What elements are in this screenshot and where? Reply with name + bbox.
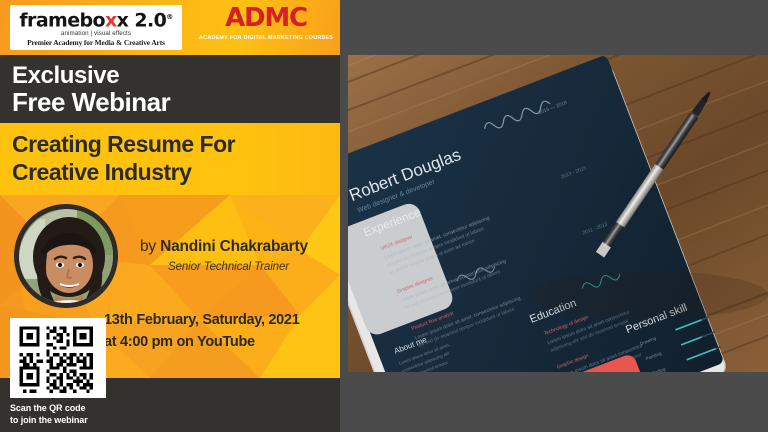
resume-photo: Robert Douglas Web designer & developer … [348, 55, 768, 372]
speaker-portrait-image [19, 209, 118, 308]
webinar-poster-panel: frameboxx 2.0® animation | visual effect… [0, 0, 340, 432]
frameboxx-logo: frameboxx 2.0® animation | visual effect… [10, 5, 182, 50]
headline-line-1: Exclusive [12, 63, 119, 89]
schedule-date: 13th February, Saturday, 2021 [104, 312, 299, 328]
qr-code[interactable] [10, 318, 106, 398]
speaker-name: Nandini Chakrabarty [160, 238, 308, 255]
frameboxx-wordmark: frameboxx 2.0® [10, 8, 182, 30]
admc-wordmark: ADMC [196, 4, 336, 32]
headline-band: Exclusive Free Webinar [0, 55, 340, 123]
speaker-byline: by Nandini Chakrabarty [140, 238, 308, 256]
topic-band: Creating Resume For Creative Industry [0, 123, 340, 195]
topic-line-2: Creative Industry [12, 157, 191, 187]
admc-tagline: ACADEMY FOR DIGITAL MARKETING COURSES [196, 34, 336, 42]
frameboxx-subtitle: Premier Academy for Media & Creative Art… [10, 38, 182, 48]
resume-photo-image: Robert Douglas Web designer & developer … [348, 55, 768, 372]
headline-line-2: Free Webinar [12, 87, 170, 117]
byline-prefix: by [140, 238, 160, 255]
schedule-time: at 4:00 pm on YouTube [104, 334, 255, 350]
poster-screenshot: frameboxx 2.0® animation | visual effect… [0, 0, 768, 432]
speaker-role: Senior Technical Trainer [168, 261, 289, 273]
qr-caption-line-2: to join the webinar [10, 414, 106, 426]
frameboxx-tagline: animation | visual effects [10, 30, 182, 38]
qr-block: Scan the QR code to join the webinar [10, 318, 106, 426]
qr-code-image [15, 323, 101, 393]
qr-caption-line-1: Scan the QR code [10, 402, 106, 414]
brand-header-strip: frameboxx 2.0® animation | visual effect… [0, 0, 340, 55]
admc-logo: ADMC ACADEMY FOR DIGITAL MARKETING COURS… [196, 4, 336, 42]
topic-line-1: Creating Resume For [12, 129, 235, 159]
registered-mark-icon: ® [166, 13, 172, 21]
speaker-avatar [14, 204, 118, 308]
qr-caption: Scan the QR code to join the webinar [10, 402, 106, 426]
